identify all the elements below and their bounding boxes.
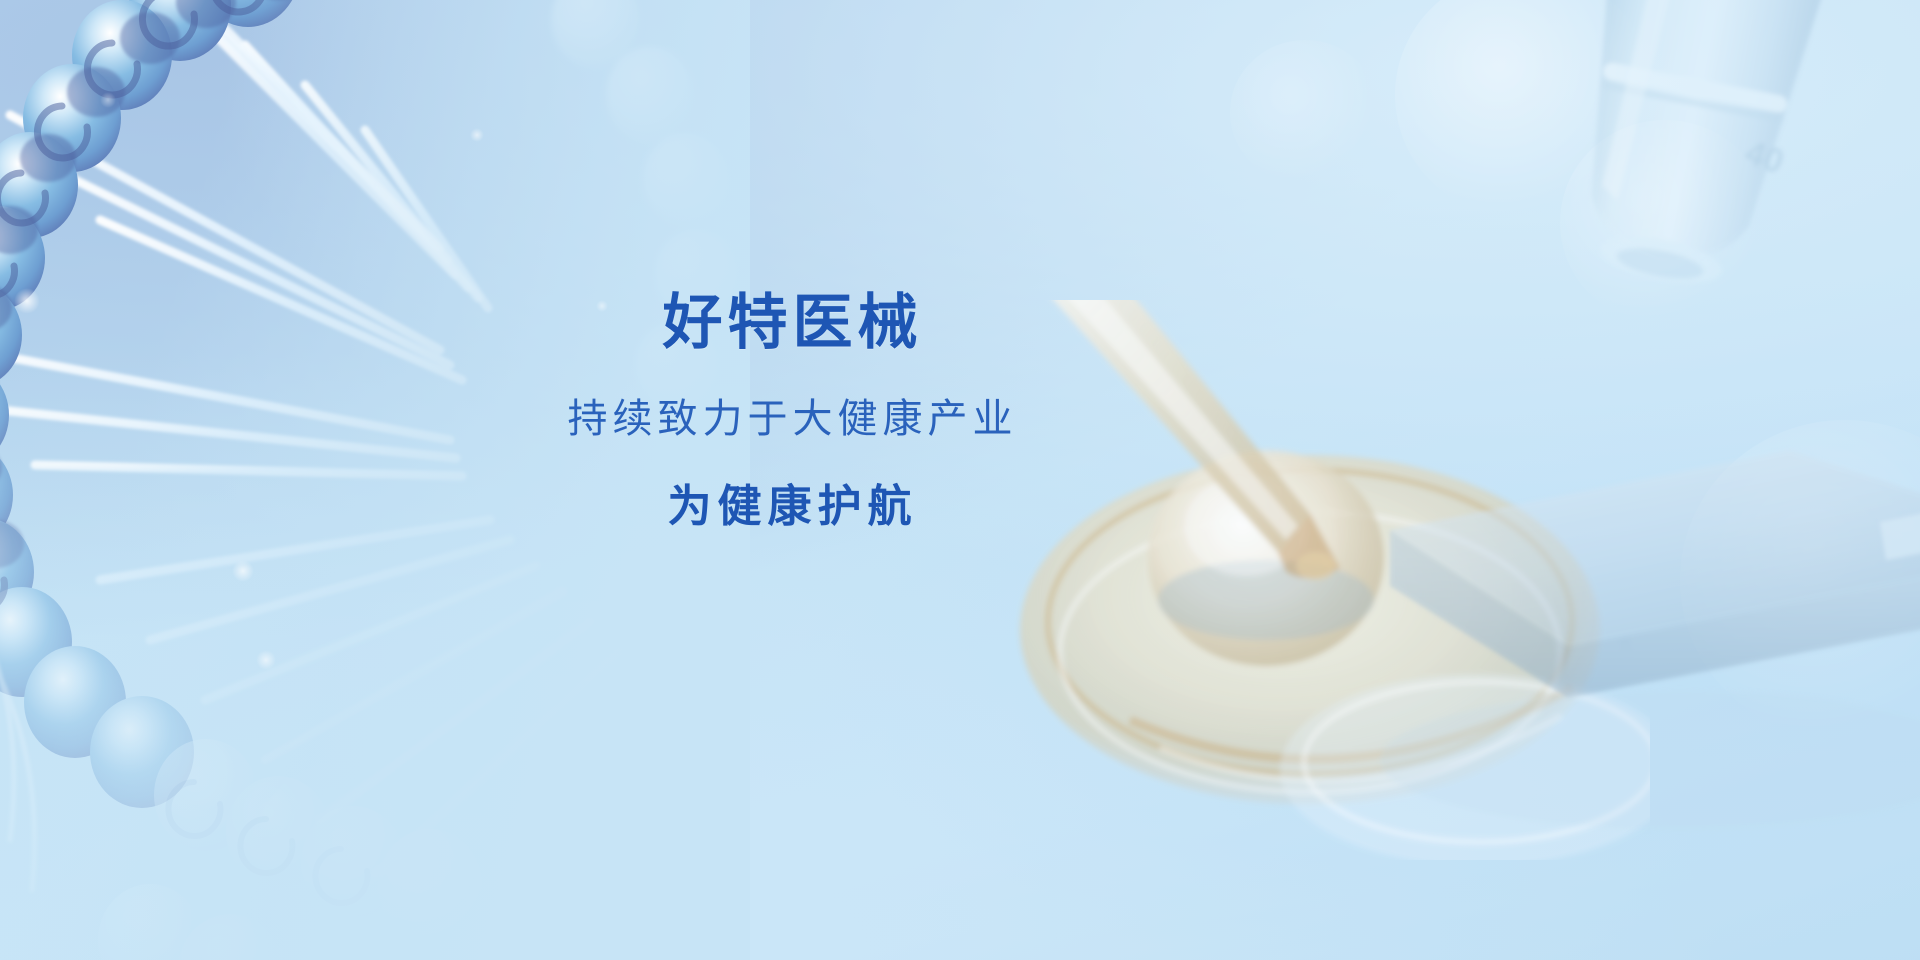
page-title: 好特医械 (0, 288, 1585, 359)
banner-copy: 好特医械 持续致力于大健康产业 为健康护航 (0, 288, 1585, 534)
banner-tagline: 为健康护航 (0, 481, 1585, 534)
hero-banner: 40 (0, 0, 1920, 960)
banner-subtitle: 持续致力于大健康产业 (0, 395, 1585, 443)
